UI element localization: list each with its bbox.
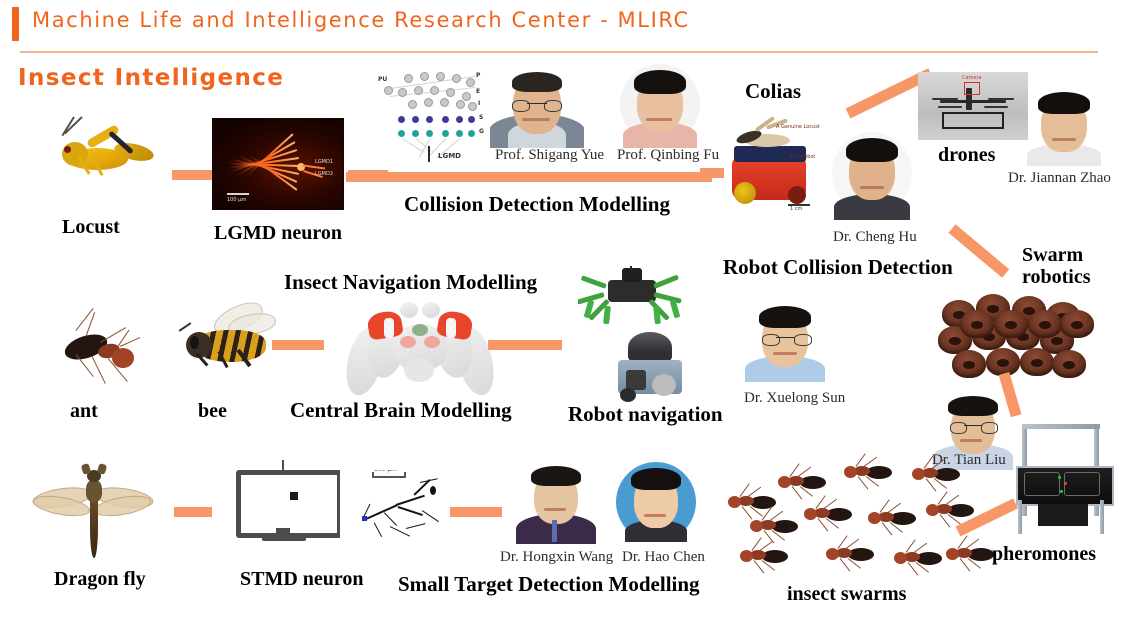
colias-tag-robot: The Robot	[790, 154, 815, 160]
person-name-hongxin-wang: Dr. Hongxin Wang	[500, 549, 613, 566]
robot-navigation-label: Robot navigation	[568, 402, 723, 427]
nn-label-e: E	[476, 88, 480, 95]
person-name-shigang-yue: Prof. Shigang Yue	[495, 147, 604, 164]
swarm-ant	[944, 536, 996, 570]
swarm-ant	[802, 496, 862, 530]
section-title: Insect Intelligence	[18, 65, 284, 91]
stmd-neuron-tracing-image: 100 µm	[344, 470, 454, 558]
swarm-ant	[866, 500, 926, 534]
central-brain-image	[338, 296, 502, 402]
portrait-jiannan-zhao	[1024, 86, 1104, 166]
lgmd-neuron-image: LGMD1 LGMD2 100 µm	[212, 118, 344, 210]
header-accent-bar	[12, 7, 19, 41]
collision-detection-modelling-label: Collision Detection Modelling	[404, 192, 670, 217]
person-name-hao-chen: Dr. Hao Chen	[622, 549, 705, 566]
drones-label: drones	[938, 144, 995, 167]
swarm-ant	[910, 456, 970, 490]
tracing-scalebar-label: 100 µm	[374, 470, 397, 473]
person-name-xuelong-sun: Dr. Xuelong Sun	[744, 390, 845, 407]
lgmd-neuron-label: LGMD neuron	[214, 222, 342, 245]
header-divider	[20, 51, 1098, 53]
micrograph-tag-lgmd2: LGMD2	[315, 171, 333, 177]
swarm-ant	[824, 536, 884, 570]
swarm-ant	[738, 538, 798, 572]
colias-robot-image: A Genuine Locust The Robot 1 cm	[718, 110, 828, 216]
nn-label-pu: PU	[378, 76, 387, 83]
portrait-xuelong-sun	[744, 300, 826, 382]
connector-locust-to-lgmd	[172, 170, 212, 180]
insect-swarms-label: insect swarms	[787, 583, 906, 606]
swarm-robots-image	[938, 292, 1096, 384]
person-name-cheng-hu: Dr. Cheng Hu	[833, 229, 917, 246]
nn-label-i: I	[478, 100, 480, 107]
nn-label-g: G	[479, 128, 484, 135]
ground-robot-image	[606, 330, 696, 406]
bee-label: bee	[198, 400, 227, 423]
pheromones-label: pheromones	[992, 543, 1096, 566]
swarm-robotics-label-line1: Swarm robotics	[1022, 244, 1091, 288]
small-target-detection-modelling-label: Small Target Detection Modelling	[398, 572, 700, 597]
dragonfly-image	[28, 462, 178, 562]
drone-camera-annotation	[964, 82, 980, 95]
micrograph-scalebar-label: 100 µm	[227, 197, 246, 203]
nn-label-s: S	[479, 114, 483, 121]
insect-swarms-image	[716, 452, 996, 578]
page-title: Machine Life and Intelligence Research C…	[32, 8, 690, 32]
stmd-monitor-image	[232, 460, 340, 552]
central-brain-modelling-label: Central Brain Modelling	[290, 398, 512, 423]
portrait-qinbing-fu	[616, 62, 704, 148]
portrait-cheng-hu	[830, 128, 914, 220]
lgmd-network-diagram: PU P E I S G	[372, 66, 492, 166]
drone-camera-label: Camera	[962, 75, 982, 81]
ant-image	[46, 300, 156, 396]
dragonfly-label: Dragon fly	[54, 568, 146, 591]
hexapod-robot-image	[578, 266, 688, 326]
connector-to-swarm-robotics	[948, 224, 1009, 277]
rig-track-right	[1064, 472, 1100, 496]
insect-navigation-modelling-label: Insect Navigation Modelling	[284, 270, 537, 295]
colias-tag-locust: A Genuine Locust	[776, 124, 820, 130]
rig-track-left	[1024, 472, 1060, 496]
drone-image: Camera	[918, 72, 1028, 140]
person-name-jiannan-zhao: Dr. Jiannan Zhao	[1008, 170, 1111, 187]
slide-canvas: Machine Life and Intelligence Research C…	[0, 0, 1124, 617]
swarm-ant	[842, 454, 902, 488]
portrait-hao-chen	[616, 462, 696, 542]
stmd-stimulus-dot	[290, 492, 298, 500]
swarm-ant	[776, 464, 836, 498]
connector-stmd-to-modelling	[450, 507, 502, 517]
nn-label-p: P	[476, 72, 480, 79]
micrograph-tag-lgmd1: LGMD1	[315, 159, 333, 165]
portrait-hongxin-wang	[516, 460, 596, 544]
header: Machine Life and Intelligence Research C…	[0, 0, 1124, 52]
locust-image	[40, 108, 160, 204]
stmd-neuron-label: STMD neuron	[240, 568, 364, 591]
pheromone-rig-image	[1008, 420, 1120, 542]
ant-label: ant	[70, 400, 98, 423]
nn-label-lgmd: LGMD	[438, 152, 461, 160]
connector-dragonfly-to-stmd	[174, 507, 212, 517]
connector-modelling-bar	[346, 172, 712, 182]
colias-label: Colias	[745, 79, 801, 104]
connector-bee-to-brain	[272, 340, 324, 350]
person-name-qinbing-fu: Prof. Qinbing Fu	[617, 147, 719, 164]
connector-brain-to-robot-nav	[488, 340, 562, 350]
swarm-ant	[748, 508, 808, 542]
bee-image	[172, 300, 284, 392]
swarm-ant	[892, 540, 952, 574]
robot-collision-detection-label: Robot Collision Detection	[723, 255, 953, 280]
portrait-shigang-yue	[490, 64, 584, 148]
colias-scalebar-label: 1 cm	[790, 206, 802, 212]
locust-label: Locust	[62, 216, 120, 239]
